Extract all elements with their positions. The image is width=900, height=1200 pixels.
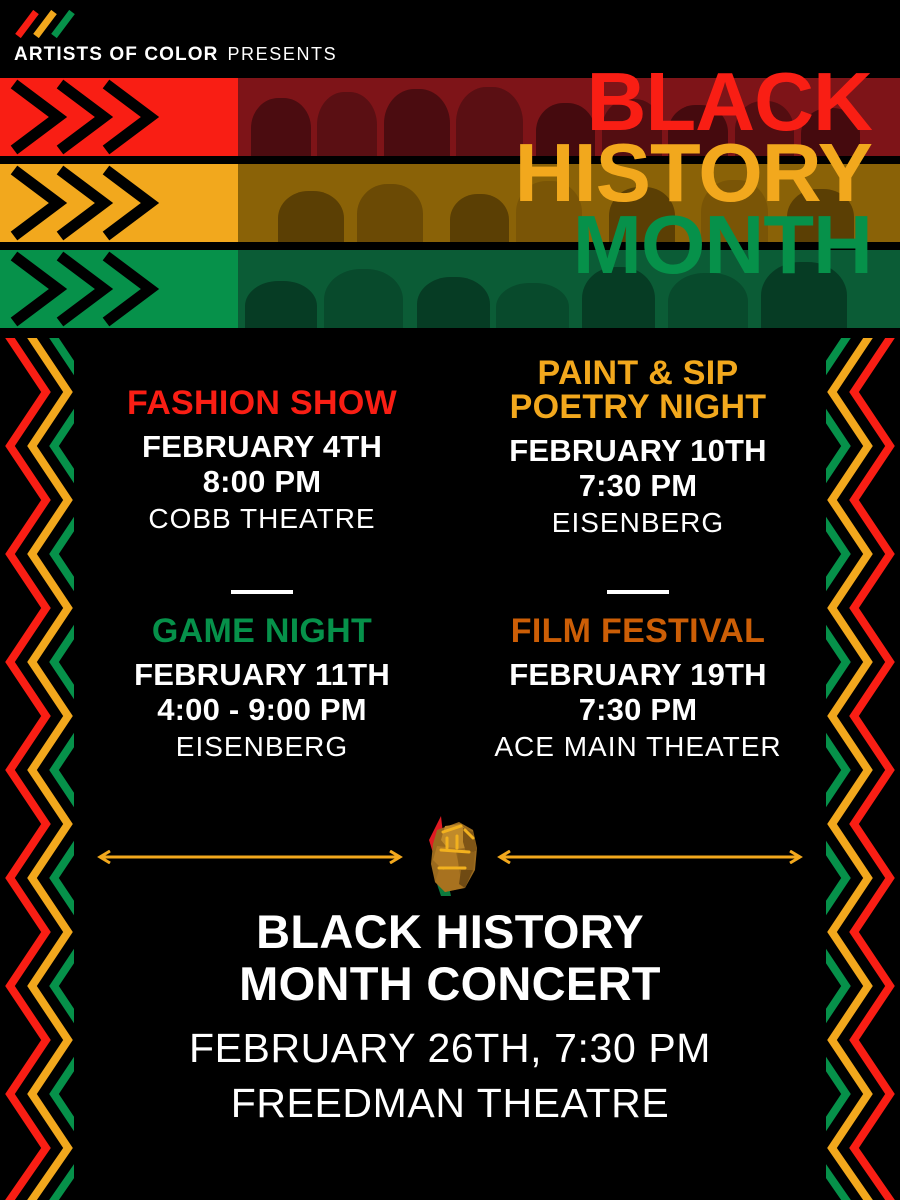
triple-slash-icon: [14, 10, 78, 38]
fist-divider-row: [74, 806, 826, 902]
title-line-month: MONTH: [515, 209, 872, 280]
concert-datetime: FEBRUARY 26TH, 7:30 PM: [74, 1021, 826, 1076]
event-time: 7:30 PM: [458, 468, 818, 503]
event-name: FILM FESTIVAL: [458, 614, 818, 648]
page-title: BLACK HISTORY MONTH: [515, 66, 872, 280]
event-time: 8:00 PM: [82, 464, 442, 499]
band-chevrons-red: [0, 78, 238, 156]
band-chevrons-green: [0, 250, 238, 328]
event-film-festival[interactable]: FILM FESTIVAL FEBRUARY 19TH 7:30 PM ACE …: [450, 614, 826, 763]
event-name: GAME NIGHT: [82, 614, 442, 648]
section-divider-right: [607, 590, 669, 594]
event-venue: EISENBERG: [458, 506, 818, 540]
concert-venue: FREEDMAN THEATRE: [74, 1077, 826, 1130]
event-date: FEBRUARY 10TH: [458, 433, 818, 468]
event-time: 7:30 PM: [458, 692, 818, 727]
black-history-month-poster: ARTISTS OF COLOR PRESENTS: [0, 0, 900, 1200]
events-grid: FASHION SHOW FEBRUARY 4TH 8:00 PM COBB T…: [74, 352, 826, 802]
raised-fist-icon: [407, 808, 493, 905]
section-divider-left: [231, 590, 293, 594]
event-fashion-show[interactable]: FASHION SHOW FEBRUARY 4TH 8:00 PM COBB T…: [74, 386, 450, 535]
presenter-line: ARTISTS OF COLOR PRESENTS: [14, 44, 337, 66]
band-chevrons-gold: [0, 164, 238, 242]
event-time: 4:00 - 9:00 PM: [82, 692, 442, 727]
concert-title-line1: BLACK HISTORY: [74, 906, 826, 958]
zigzag-border-right: [826, 338, 900, 1200]
double-arrow-left-icon: [94, 850, 406, 864]
event-venue: ACE MAIN THEATER: [458, 730, 818, 764]
double-arrow-right-icon: [494, 850, 806, 864]
event-venue: COBB THEATRE: [82, 502, 442, 536]
concert-title-line2: MONTH CONCERT: [74, 958, 826, 1010]
event-date: FEBRUARY 19TH: [458, 657, 818, 692]
featured-concert[interactable]: BLACK HISTORY MONTH CONCERT FEBRUARY 26T…: [74, 906, 826, 1130]
event-date: FEBRUARY 11TH: [82, 657, 442, 692]
presenter-brand: ARTISTS OF COLOR: [14, 44, 218, 66]
event-paint-and-sip-poetry-night[interactable]: PAINT & SIP POETRY NIGHT FEBRUARY 10TH 7…: [450, 356, 826, 539]
event-game-night[interactable]: GAME NIGHT FEBRUARY 11TH 4:00 - 9:00 PM …: [74, 614, 450, 763]
event-name: FASHION SHOW: [82, 386, 442, 420]
presents-word: PRESENTS: [227, 44, 337, 65]
event-venue: EISENBERG: [82, 730, 442, 764]
event-name: PAINT & SIP POETRY NIGHT: [458, 356, 818, 424]
event-date: FEBRUARY 4TH: [82, 429, 442, 464]
zigzag-border-left: [0, 338, 74, 1200]
